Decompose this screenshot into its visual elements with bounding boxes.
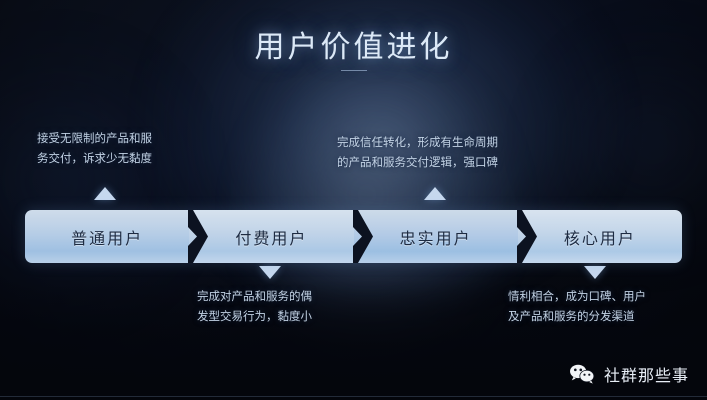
triangle-down-icon-paid	[259, 266, 281, 279]
annotation-paid-user: 完成对产品和服务的偶 发型交易行为，黏度小	[197, 288, 312, 328]
process-bar: 普通用户 付费用户 忠实用户 核心用户	[25, 210, 682, 263]
process-stage-label: 忠实用户	[400, 225, 472, 249]
annotation-ordinary-user: 接受无限制的产品和服 务交付，诉求少无黏度	[37, 130, 152, 170]
process-stage-label: 核心用户	[564, 225, 636, 249]
process-stage-ordinary-user[interactable]: 普通用户	[25, 210, 189, 263]
process-stage-core-user[interactable]: 核心用户	[518, 210, 682, 263]
chevron-right-notch-icon-3	[517, 210, 539, 263]
slide-canvas: 用户价值进化 接受无限制的产品和服 务交付，诉求少无黏度 完成信任转化，形成有生…	[0, 0, 707, 400]
footer-divider	[0, 396, 707, 397]
chevron-right-notch-icon-2	[353, 210, 375, 263]
triangle-down-icon-core	[584, 266, 606, 279]
footer-watermark: 社群那些事	[569, 362, 689, 386]
process-stage-loyal-user[interactable]: 忠实用户	[354, 210, 518, 263]
annotation-core-user: 情利相合，成为口碑、用户 及产品和服务的分发渠道	[508, 288, 646, 328]
process-stage-label: 付费用户	[235, 225, 307, 249]
process-stage-paid-user[interactable]: 付费用户	[189, 210, 353, 263]
triangle-up-icon-ordinary	[94, 187, 116, 200]
triangle-up-icon-loyal	[424, 187, 446, 200]
process-stage-label: 普通用户	[71, 225, 143, 249]
annotation-loyal-user: 完成信任转化，形成有生命周期 的产品和服务交付逻辑，强口碑	[337, 134, 498, 174]
footer-label: 社群那些事	[604, 362, 689, 386]
page-title: 用户价值进化	[0, 22, 707, 66]
wechat-icon	[569, 363, 595, 385]
title-divider-icon	[341, 70, 367, 71]
chevron-right-notch-icon-1	[188, 210, 210, 263]
